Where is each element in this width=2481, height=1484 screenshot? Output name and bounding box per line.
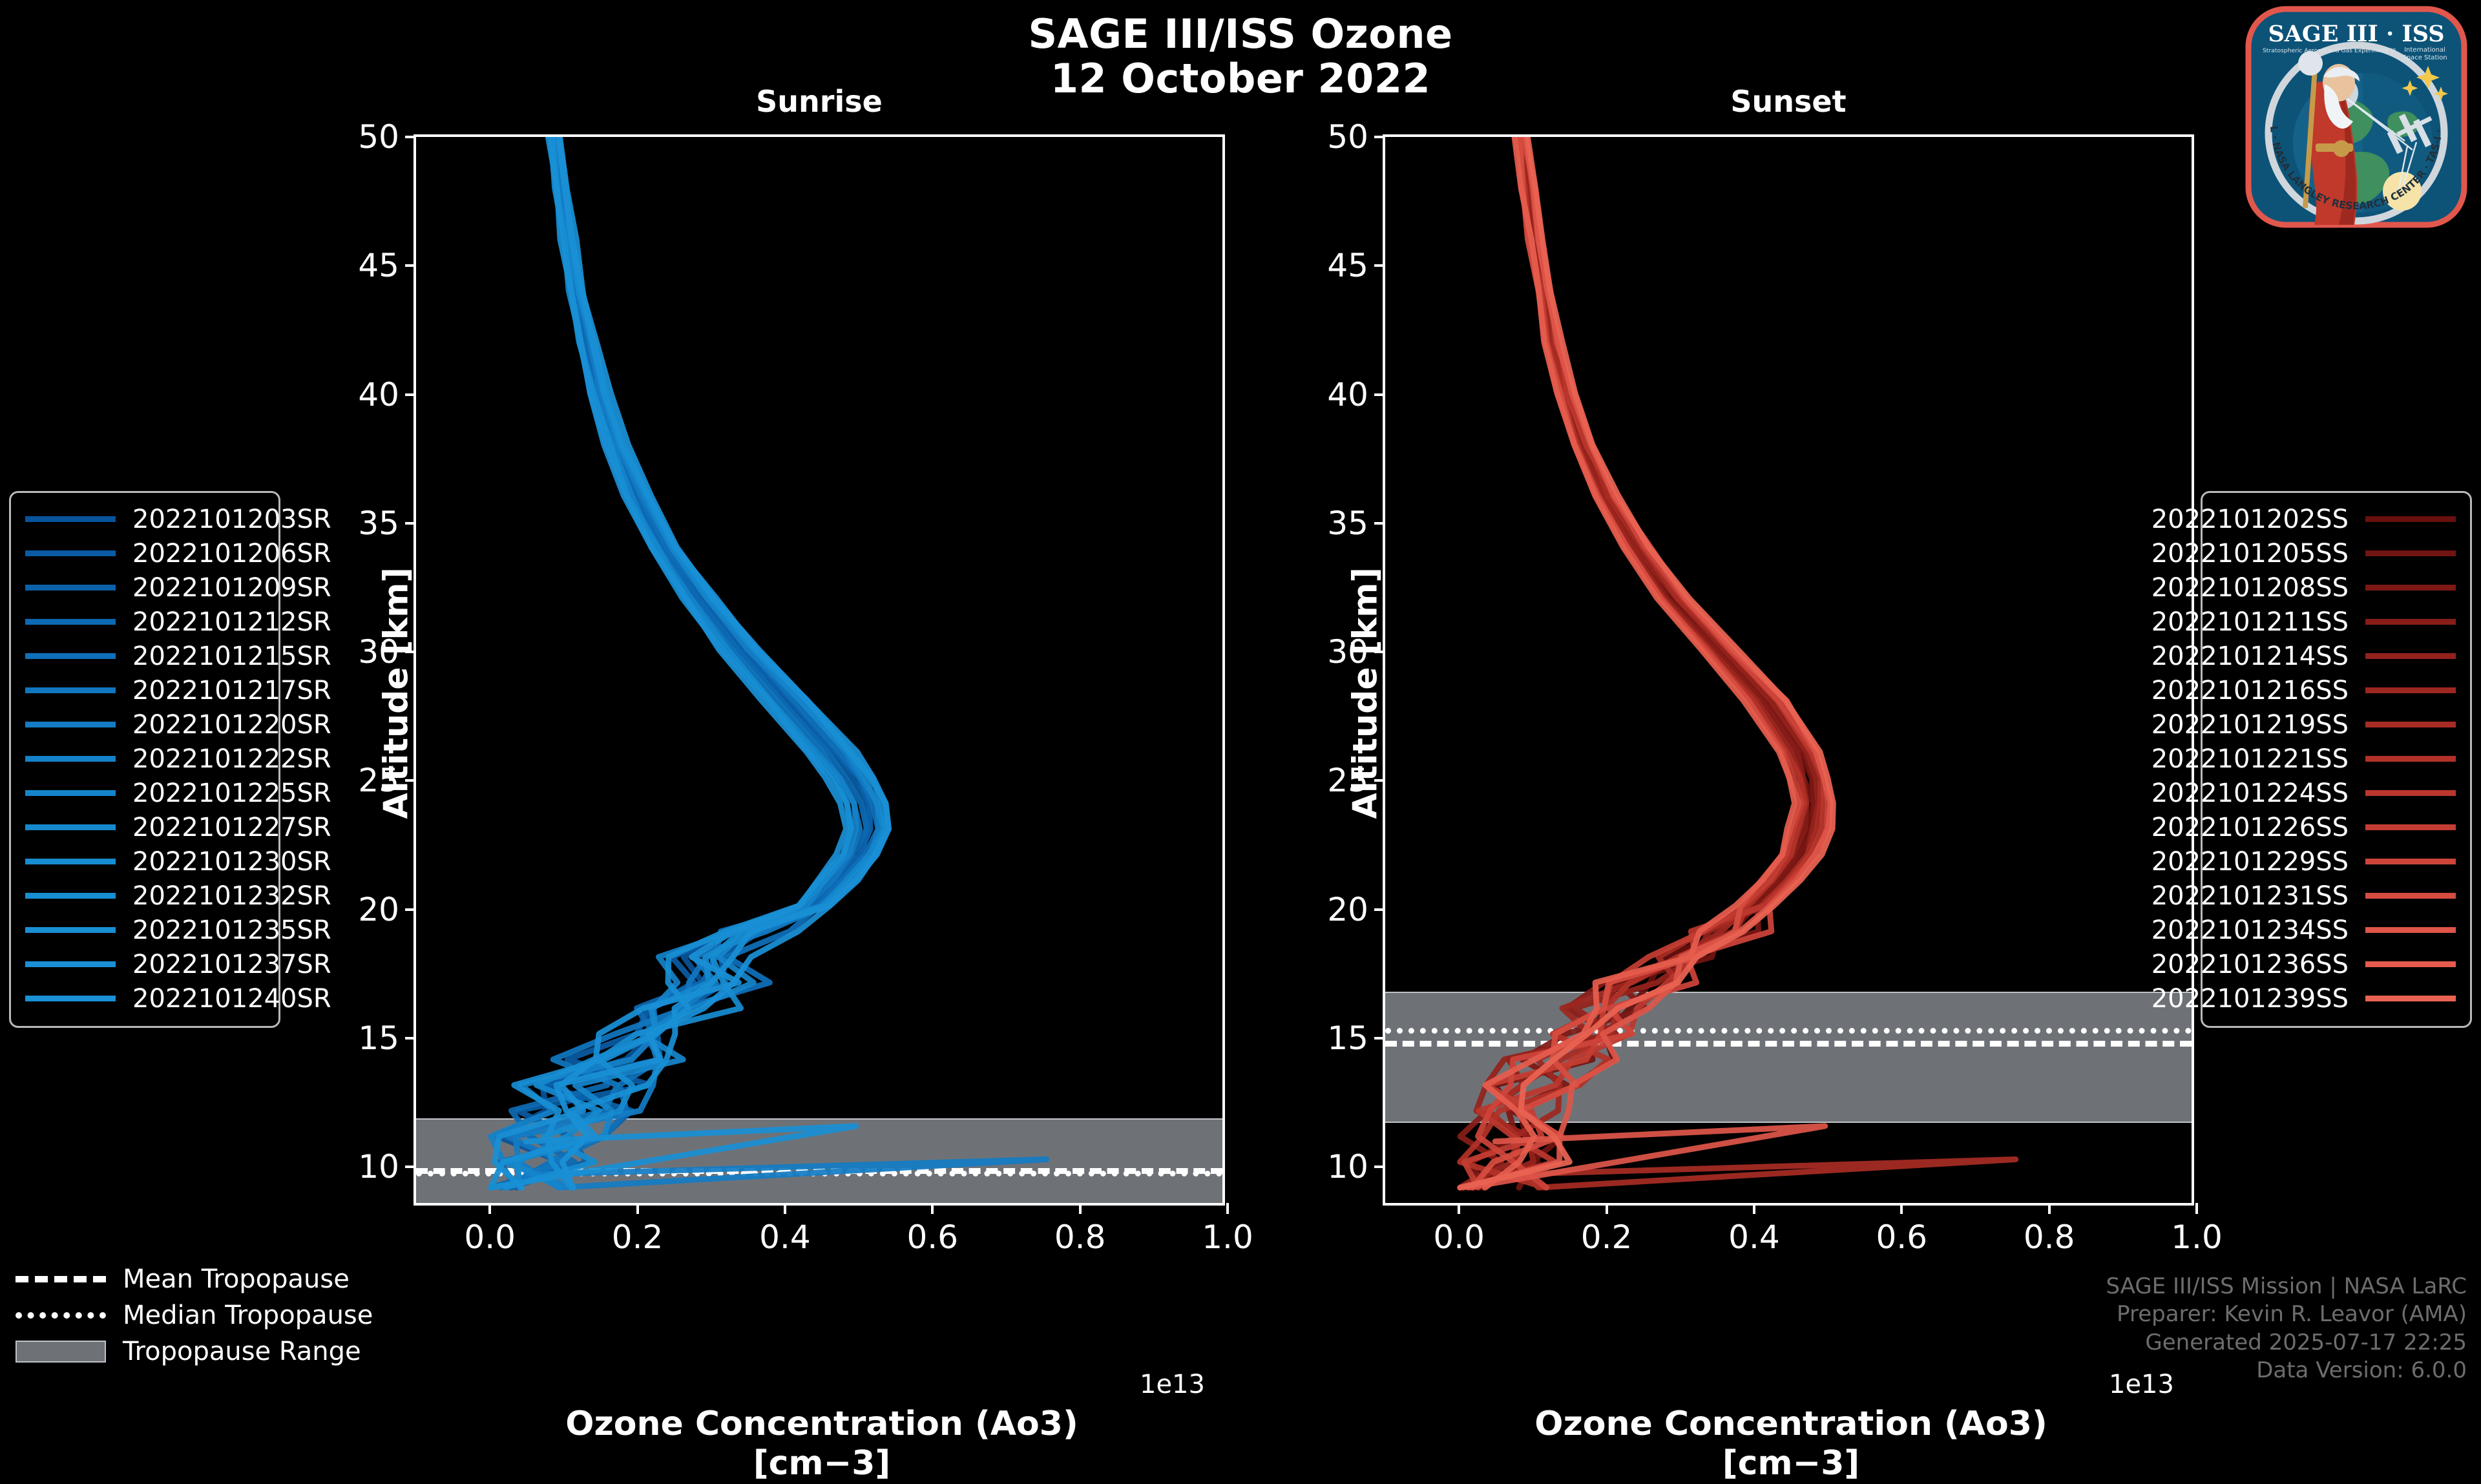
legend-item-2022101221SS[interactable]: 2022101221SS <box>2217 742 2456 776</box>
y-tick-mark <box>1374 136 1385 138</box>
profile-line-2022101209SR <box>499 137 870 1187</box>
legend-swatch <box>25 516 116 522</box>
legend-swatch <box>2365 687 2456 693</box>
legend-item-2022101212SR[interactable]: 2022101212SR <box>25 605 264 639</box>
legend-label: 2022101220SR <box>116 710 331 740</box>
legend-item-2022101206SR[interactable]: 2022101206SR <box>25 536 264 570</box>
profile-line-2022101212SR <box>491 137 867 1187</box>
legend-label: 2022101222SR <box>116 744 331 774</box>
x-axis-label-text-sunset: Ozone Concentration (Ao3) <box>1534 1405 2047 1443</box>
legend-label: 2022101230SR <box>116 847 331 877</box>
legend-item-2022101224SS[interactable]: 2022101224SS <box>2217 776 2456 810</box>
y-tick-label: 50 <box>358 118 399 156</box>
plot-area-sunrise <box>416 137 1222 1203</box>
x-axis-units-sunset: [cm−3] <box>1722 1444 1859 1483</box>
legend-item-2022101234SS[interactable]: 2022101234SS <box>2217 913 2456 947</box>
patch-title: SAGE III · ISS <box>2268 21 2444 47</box>
legend-item-2022101219SS[interactable]: 2022101219SS <box>2217 707 2456 742</box>
x-tick-label: 0.4 <box>727 1218 843 1256</box>
legend-swatch <box>2365 619 2456 625</box>
profile-line-2022101215SR <box>507 137 878 1187</box>
x-axis-exponent-sunrise: 1e13 <box>1140 1370 1205 1399</box>
legend-item-2022101239SS[interactable]: 2022101239SS <box>2217 981 2456 1016</box>
plot-area-sunset <box>1385 137 2192 1203</box>
tropopause-legend-label: Tropopause Range <box>106 1337 361 1366</box>
y-tick-label: 20 <box>1327 890 1368 929</box>
legend-label: 2022101237SR <box>116 950 331 979</box>
y-tick-mark <box>405 136 416 138</box>
profile-line-2022101220SR <box>516 137 1047 1187</box>
x-axis-units-sunrise: [cm−3] <box>753 1444 890 1483</box>
figure: SAGE III/ISS Ozone 12 October 2022 Sunri… <box>0 0 2481 1395</box>
x-axis-label-sunset: Ozone Concentration (Ao3) [cm−3] <box>1385 1405 2197 1484</box>
legend-swatch <box>25 550 116 556</box>
legend-swatch <box>2365 722 2456 727</box>
x-axis-label-sunrise: Ozone Concentration (Ao3) [cm−3] <box>416 1405 1228 1484</box>
profile-line-2022101230SR <box>507 137 885 1187</box>
credits-line: Preparer: Kevin R. Leavor (AMA) <box>2106 1301 2467 1329</box>
x-tick-mark <box>2195 1203 2198 1214</box>
credits: SAGE III/ISS Mission | NASA LaRCPreparer… <box>2106 1273 2467 1385</box>
legend-label: 2022101231SS <box>2151 881 2365 911</box>
title-line-1: SAGE III/ISS Ozone <box>1028 10 1452 57</box>
x-tick-label: 0.8 <box>1991 1218 2108 1256</box>
y-tick-label: 40 <box>1327 375 1368 414</box>
legend-item-2022101236SS[interactable]: 2022101236SS <box>2217 947 2456 981</box>
x-tick-label: 0.6 <box>1843 1218 1960 1256</box>
tropopause-legend-item-band: Tropopause Range <box>16 1333 351 1370</box>
x-tick-label: 0.8 <box>1022 1218 1138 1256</box>
legend-swatch <box>25 859 116 864</box>
x-tick-label: 0.0 <box>1401 1218 1517 1256</box>
legend-item-2022101229SS[interactable]: 2022101229SS <box>2217 844 2456 879</box>
legend-swatch <box>2365 859 2456 864</box>
legend-item-2022101205SS[interactable]: 2022101205SS <box>2217 536 2456 570</box>
legend-item-2022101216SS[interactable]: 2022101216SS <box>2217 673 2456 707</box>
y-tick-label: 10 <box>1327 1147 1368 1186</box>
legend-swatch <box>25 687 116 693</box>
legend-swatch <box>2365 653 2456 659</box>
patch-subtitle-right-2: Space Station <box>2402 54 2447 61</box>
legend-item-2022101230SR[interactable]: 2022101230SR <box>25 844 264 879</box>
x-tick-mark <box>1226 1203 1229 1214</box>
tropopause-legend-item-dashed: Mean Tropopause <box>16 1261 351 1297</box>
x-tick-label: 0.4 <box>1696 1218 1812 1256</box>
legend-swatch <box>25 722 116 727</box>
x-tick-mark <box>931 1203 934 1214</box>
legend-label: 2022101211SS <box>2151 607 2365 637</box>
profile-line-2022101206SR <box>511 137 868 1187</box>
legend-item-2022101232SR[interactable]: 2022101232SR <box>25 879 264 913</box>
legend-label: 2022101217SR <box>116 676 331 705</box>
profile-line-2022101208SS <box>1472 137 1815 1187</box>
legend-label: 2022101209SR <box>116 573 331 603</box>
y-tick-label: 40 <box>358 375 399 414</box>
profile-line-2022101229SS <box>1478 137 1828 1187</box>
x-tick-mark <box>1753 1203 1755 1214</box>
legend-item-2022101217SR[interactable]: 2022101217SR <box>25 673 264 707</box>
plot-sunset: 504540353025201510 0.00.20.40.60.81.0 Al… <box>1383 134 2194 1206</box>
legend-label: 2022101224SS <box>2151 779 2365 808</box>
legend-item-2022101225SR[interactable]: 2022101225SR <box>25 776 264 810</box>
y-tick-mark <box>405 264 416 267</box>
y-tick-mark <box>405 1037 416 1040</box>
profile-line-2022101202SS <box>1460 137 1814 1187</box>
panel-title-sunset: Sunset <box>1383 84 2194 119</box>
credits-line: SAGE III/ISS Mission | NASA LaRC <box>2106 1273 2467 1301</box>
legend-item-2022101202SS[interactable]: 2022101202SS <box>2217 502 2456 536</box>
legend-label: 2022101225SR <box>116 779 331 808</box>
x-tick-label: 1.0 <box>2139 1218 2255 1256</box>
legend-label: 2022101226SS <box>2151 813 2365 842</box>
tropopause-legend-swatch-dashed <box>16 1276 106 1282</box>
x-tick-mark <box>2048 1203 2051 1214</box>
legend-label: 2022101234SS <box>2151 915 2365 945</box>
legend-label: 2022101203SR <box>116 505 331 534</box>
legend-label: 2022101221SS <box>2151 744 2365 774</box>
patch-subtitle-left: Stratospheric Aerosol and Gas Experiment… <box>2263 47 2396 54</box>
legend-swatch <box>25 824 116 830</box>
y-tick-label: 15 <box>358 1019 399 1058</box>
legend-label: 2022101202SS <box>2151 505 2365 534</box>
legend-label: 2022101239SS <box>2151 984 2365 1014</box>
legend-swatch <box>25 996 116 1001</box>
x-tick-label: 1.0 <box>1169 1218 1286 1256</box>
y-tick-mark <box>1374 393 1385 396</box>
legend-sunrise[interactable]: 2022101203SR2022101206SR2022101209SR2022… <box>9 491 280 1028</box>
legend-item-2022101222SR[interactable]: 2022101222SR <box>25 742 264 776</box>
profile-line-2022101225SR <box>509 137 884 1187</box>
legend-item-2022101208SS[interactable]: 2022101208SS <box>2217 570 2456 605</box>
patch-subtitle-right-1: International <box>2404 47 2445 54</box>
legend-swatch <box>2365 927 2456 933</box>
legend-item-2022101235SR[interactable]: 2022101235SR <box>25 913 264 947</box>
legend-swatch <box>25 756 116 762</box>
legend-item-2022101240SR[interactable]: 2022101240SR <box>25 981 264 1016</box>
legend-label: 2022101240SR <box>116 984 331 1014</box>
legend-label: 2022101205SS <box>2151 539 2365 569</box>
legend-item-2022101214SS[interactable]: 2022101214SS <box>2217 639 2456 673</box>
legend-swatch <box>2365 790 2456 796</box>
legend-swatch <box>2365 550 2456 556</box>
legend-label: 2022101235SR <box>116 915 331 945</box>
legend-item-2022101231SS[interactable]: 2022101231SS <box>2217 879 2456 913</box>
y-tick-mark <box>405 908 416 911</box>
x-tick-mark <box>636 1203 639 1214</box>
legend-tropopause: Mean TropopauseMedian TropopauseTropopau… <box>16 1261 351 1370</box>
legend-label: 2022101214SS <box>2151 642 2365 671</box>
y-tick-mark <box>1374 264 1385 267</box>
y-tick-mark <box>405 393 416 396</box>
x-tick-mark <box>488 1203 491 1214</box>
tropopause-legend-item-dotted: Median Tropopause <box>16 1297 351 1333</box>
legend-swatch <box>2365 824 2456 830</box>
legend-swatch <box>25 653 116 659</box>
credits-line: Generated 2025-07-17 22:25 <box>2106 1329 2467 1357</box>
profile-line-2022101227SR <box>518 137 851 1187</box>
legend-swatch <box>2365 996 2456 1001</box>
tropopause-legend-swatch-band <box>16 1341 106 1363</box>
y-tick-mark <box>1374 1037 1385 1040</box>
legend-item-2022101203SR[interactable]: 2022101203SR <box>25 502 264 536</box>
legend-item-2022101209SR[interactable]: 2022101209SR <box>25 570 264 605</box>
legend-swatch <box>25 619 116 625</box>
legend-label: 2022101212SR <box>116 607 331 637</box>
legend-label: 2022101215SR <box>116 642 331 671</box>
y-tick-label: 45 <box>1327 246 1368 285</box>
legend-label: 2022101229SS <box>2151 847 2365 877</box>
legend-swatch <box>2365 585 2456 590</box>
y-tick-label: 20 <box>358 890 399 929</box>
x-tick-label: 0.0 <box>432 1218 548 1256</box>
panel-title-sunrise: Sunrise <box>413 84 1225 119</box>
legend-item-2022101226SS[interactable]: 2022101226SS <box>2217 810 2456 844</box>
legend-item-2022101237SR[interactable]: 2022101237SR <box>25 947 264 981</box>
ozone-profiles-sunset <box>1385 137 2192 1203</box>
legend-item-2022101227SR[interactable]: 2022101227SR <box>25 810 264 844</box>
x-tick-mark <box>784 1203 786 1214</box>
sage-iii-iss-mission-patch-icon: SAGE III · ISS Stratospheric Aerosol and… <box>2243 4 2469 230</box>
credits-line: Data Version: 6.0.0 <box>2106 1357 2467 1385</box>
profile-line-2022101232SR <box>514 137 852 1187</box>
tropopause-legend-swatch-dotted <box>16 1312 106 1319</box>
x-tick-mark <box>1079 1203 1082 1214</box>
profile-line-2022101237SR <box>494 137 846 1187</box>
profile-line-2022101224SS <box>1463 137 1824 1187</box>
legend-item-2022101220SR[interactable]: 2022101220SR <box>25 707 264 742</box>
profile-line-2022101239SS <box>1460 137 1834 1187</box>
x-axis-label-text-sunrise: Ozone Concentration (Ao3) <box>565 1405 1078 1443</box>
profile-line-2022101234SS <box>1468 137 1830 1187</box>
y-tick-mark <box>1374 908 1385 911</box>
legend-label: 2022101219SS <box>2151 710 2365 740</box>
profile-line-2022101214SS <box>1474 137 1818 1187</box>
legend-item-2022101215SR[interactable]: 2022101215SR <box>25 639 264 673</box>
profile-line-2022101235SR <box>491 137 889 1187</box>
x-tick-mark <box>1900 1203 1903 1214</box>
legend-swatch <box>25 790 116 796</box>
y-tick-label: 10 <box>358 1147 399 1186</box>
legend-item-2022101211SS[interactable]: 2022101211SS <box>2217 605 2456 639</box>
legend-swatch <box>25 893 116 899</box>
y-tick-mark <box>405 1165 416 1168</box>
legend-label: 2022101227SR <box>116 813 331 842</box>
y-tick-label: 45 <box>358 246 399 285</box>
x-tick-label: 0.2 <box>580 1218 696 1256</box>
legend-swatch <box>2365 893 2456 899</box>
legend-swatch <box>2365 961 2456 967</box>
profile-line-2022101203SR <box>497 137 869 1187</box>
y-axis-label-sunrise: Altitude [km] <box>377 512 416 874</box>
ozone-profiles-sunrise <box>416 137 1222 1203</box>
y-tick-label: 15 <box>1327 1019 1368 1058</box>
y-tick-label: 50 <box>1327 118 1368 156</box>
x-tick-mark <box>1458 1203 1460 1214</box>
legend-label: 2022101236SS <box>2151 950 2365 979</box>
y-axis-label-sunset: Altitude [km] <box>1346 512 1385 874</box>
x-tick-mark <box>1606 1203 1608 1214</box>
legend-swatch <box>25 585 116 590</box>
x-tick-label: 0.6 <box>874 1218 990 1256</box>
legend-label: 2022101232SR <box>116 881 331 911</box>
legend-swatch <box>25 961 116 967</box>
y-tick-mark <box>1374 1165 1385 1168</box>
legend-swatch <box>2365 756 2456 762</box>
legend-label: 2022101208SS <box>2151 573 2365 603</box>
legend-swatch <box>2365 516 2456 522</box>
profile-line-2022101217SR <box>501 137 860 1187</box>
legend-label: 2022101216SS <box>2151 676 2365 705</box>
legend-label: 2022101206SR <box>116 539 331 569</box>
legend-sunset[interactable]: 2022101202SS2022101205SS2022101208SS2022… <box>2201 491 2472 1028</box>
x-tick-label: 0.2 <box>1549 1218 1665 1256</box>
legend-swatch <box>25 927 116 933</box>
tropopause-legend-label: Mean Tropopause <box>106 1264 350 1294</box>
tropopause-legend-label: Median Tropopause <box>106 1301 373 1330</box>
plot-sunrise: 504540353025201510 0.00.20.40.60.81.0 Al… <box>413 134 1225 1206</box>
